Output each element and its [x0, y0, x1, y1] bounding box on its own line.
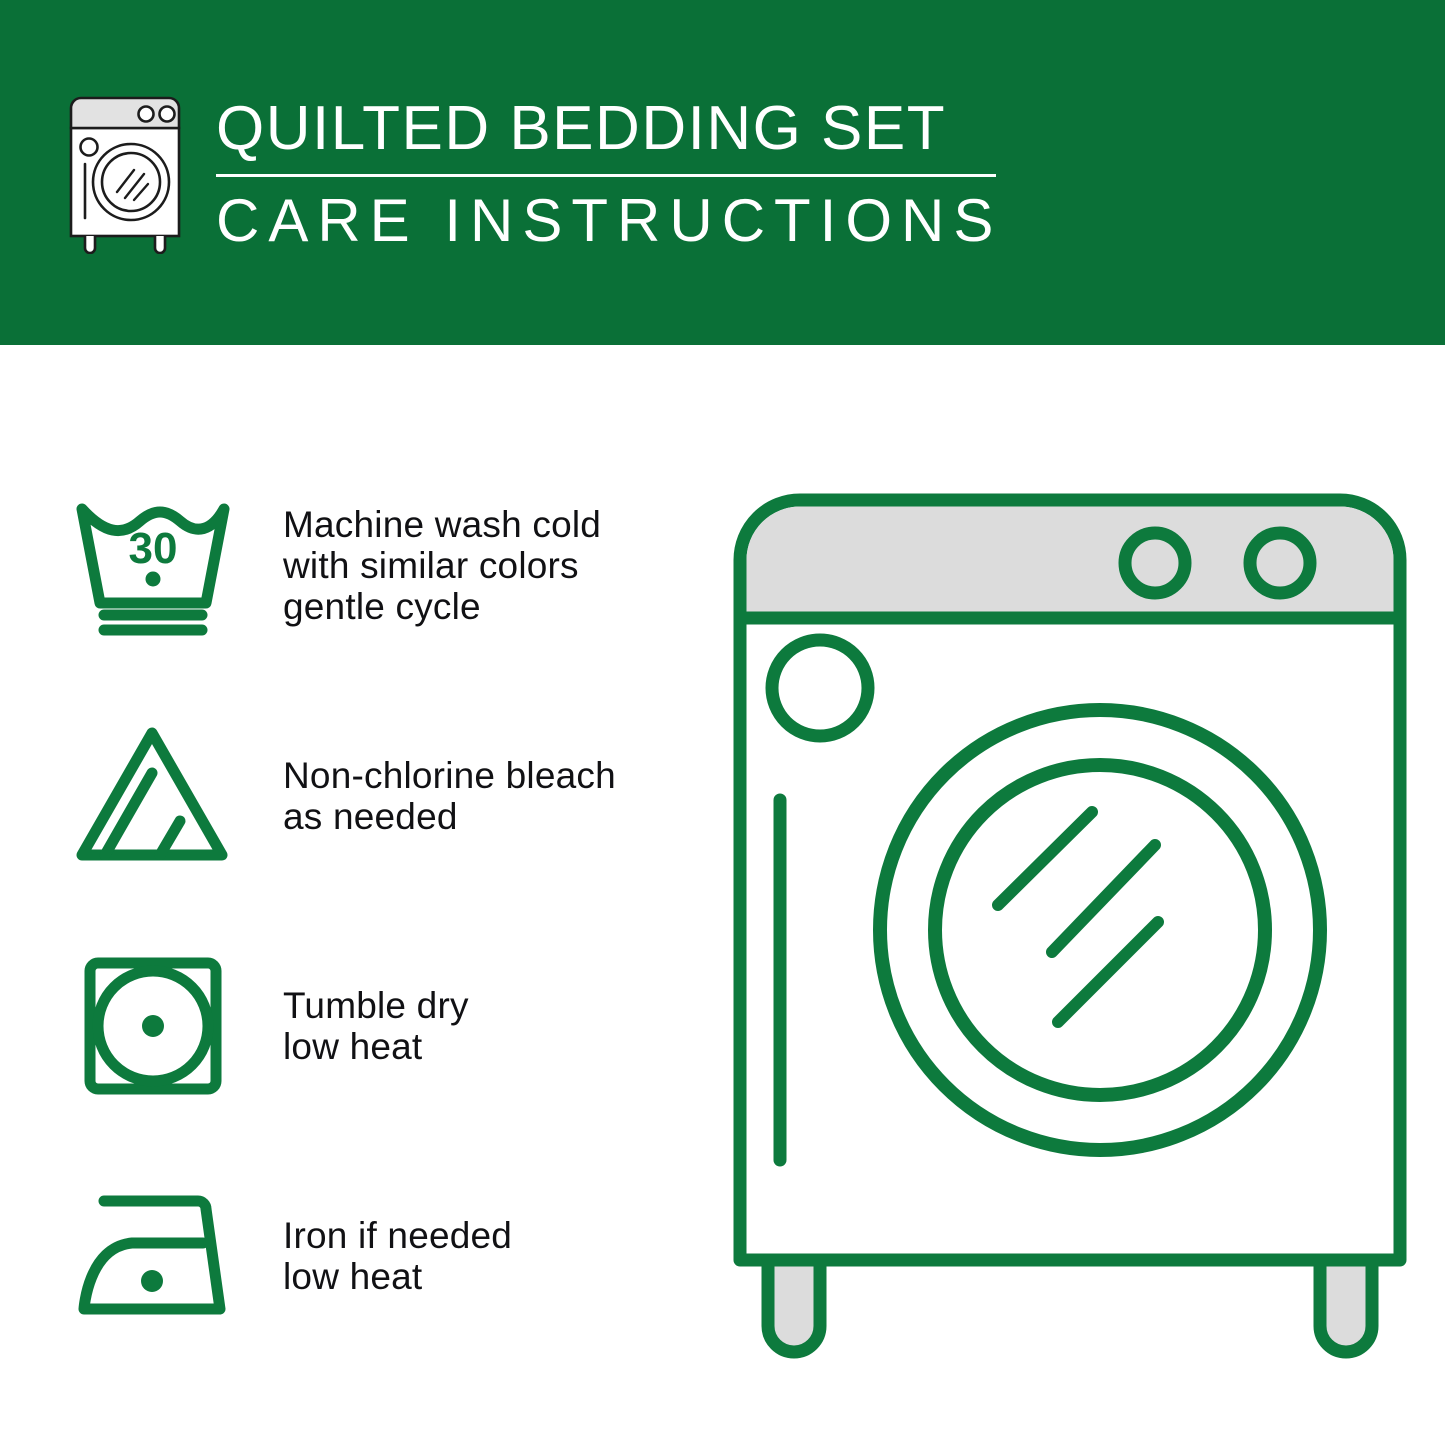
non-chlorine-bleach-triangle-icon	[70, 713, 235, 878]
care-row-bleach: Non-chlorine bleach as needed	[70, 708, 690, 883]
care-label-line: gentle cycle	[283, 586, 601, 627]
care-row-tumble-dry: Tumble dry low heat	[70, 938, 690, 1113]
care-instructions-infographic: QUILTED BEDDING SET CARE INSTRUCTIONS	[0, 0, 1445, 1445]
page-title: QUILTED BEDDING SET	[216, 96, 1002, 162]
front-load-washing-machine-illustration	[700, 460, 1440, 1385]
care-row-iron: Iron if needed low heat	[70, 1168, 690, 1343]
washing-machine-icon	[62, 94, 188, 254]
care-label-line: low heat	[283, 1256, 512, 1297]
foot-left	[768, 1260, 820, 1352]
care-label-line: with similar colors	[283, 545, 601, 586]
header-content: QUILTED BEDDING SET CARE INSTRUCTIONS	[62, 92, 1062, 272]
care-label-line: Non-chlorine bleach	[283, 755, 616, 796]
care-label-tumble-dry: Tumble dry low heat	[283, 985, 469, 1067]
care-label-bleach: Non-chlorine bleach as needed	[283, 755, 616, 837]
wash-tub-30-gentle-icon: 30	[70, 483, 235, 648]
care-label-iron: Iron if needed low heat	[283, 1215, 512, 1297]
iron-low-heat-icon	[70, 1173, 235, 1338]
tumble-dry-low-icon	[70, 943, 235, 1108]
header-text-block: QUILTED BEDDING SET CARE INSTRUCTIONS	[216, 92, 1002, 253]
wash-temperature-label: 30	[129, 524, 178, 573]
page-subtitle: CARE INSTRUCTIONS	[216, 189, 1002, 253]
care-label-line: Tumble dry	[283, 985, 469, 1026]
care-label-line: low heat	[283, 1026, 469, 1067]
care-label-line: as needed	[283, 796, 616, 837]
care-label-wash: Machine wash cold with similar colors ge…	[283, 504, 601, 627]
care-row-wash: 30 Machine wash cold with similar colors…	[70, 478, 690, 653]
foot-right	[1320, 1260, 1372, 1352]
care-instruction-list: 30 Machine wash cold with similar colors…	[70, 478, 690, 1398]
title-divider	[216, 174, 996, 177]
care-label-line: Iron if needed	[283, 1215, 512, 1256]
control-panel	[747, 507, 1394, 619]
care-label-line: Machine wash cold	[283, 504, 601, 545]
header-band: QUILTED BEDDING SET CARE INSTRUCTIONS	[0, 0, 1445, 345]
